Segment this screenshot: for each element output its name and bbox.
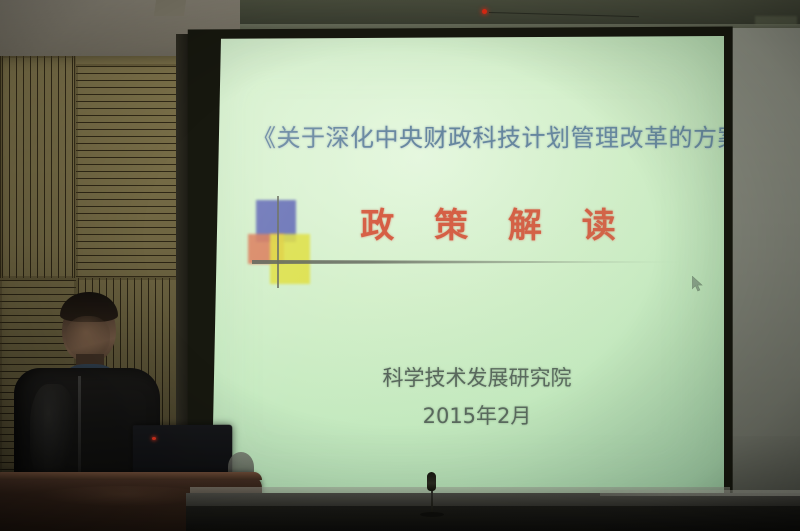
- projection-screen: 《关于深化中央财政科技计划管理改革的方案》 政 策 解 读 科学技术发展研究院 …: [200, 36, 724, 498]
- desk-edge-highlight: [600, 490, 800, 496]
- podium-highlight: [40, 486, 210, 506]
- slide-title: 《关于深化中央财政科技计划管理改革的方案》: [252, 118, 724, 153]
- wall-sign: [755, 16, 797, 25]
- slide-date: 2015年2月: [312, 400, 642, 430]
- panel-top-left: [0, 56, 76, 278]
- logo-vertical-line: [277, 196, 279, 288]
- projector-led-icon: [482, 9, 487, 14]
- logo-square-yellow: [270, 234, 310, 284]
- presenter-face: [66, 316, 110, 358]
- jacket-highlight: [30, 384, 76, 484]
- microphone-base: [420, 512, 444, 517]
- desk-front-face: [186, 506, 800, 531]
- slide-divider-rule: [252, 260, 682, 264]
- lecture-hall-photo: 《关于深化中央财政科技计划管理改革的方案》 政 策 解 读 科学技术发展研究院 …: [0, 0, 800, 531]
- slide-logo-icon: [248, 196, 330, 288]
- ceiling-bracket: [154, 0, 186, 16]
- slide-organization: 科学技术发展研究院: [312, 362, 642, 392]
- podium-surface: [0, 472, 262, 480]
- laptop-led-icon: [152, 437, 156, 440]
- slide-headline: 政 策 解 读: [330, 198, 660, 247]
- mouse-pointer-icon[interactable]: [692, 276, 704, 292]
- microphone-icon: [427, 472, 436, 491]
